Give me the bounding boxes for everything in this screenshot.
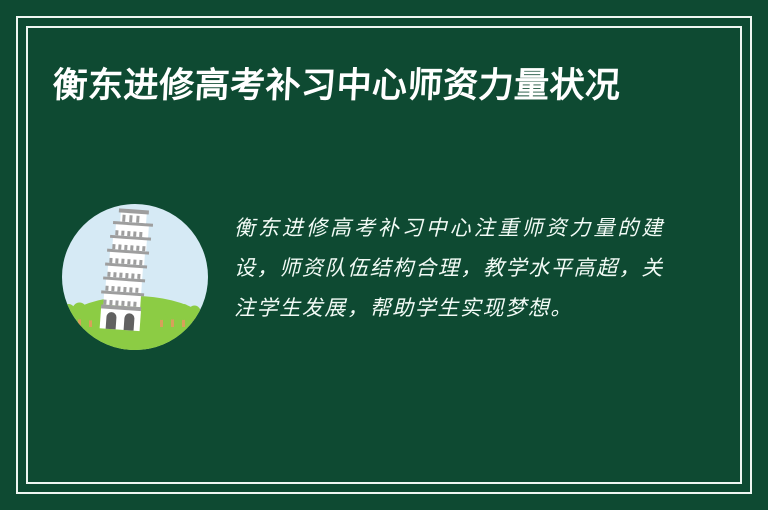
page-title: 衡东进修高考补习中心师资力量状况 bbox=[51, 58, 634, 115]
content-row: 衡东进修高考补习中心注重师资力量的建设，师资队伍结构合理，教学水平高超，关注学生… bbox=[54, 196, 714, 350]
leaning-tower-of-pisa-icon bbox=[62, 204, 208, 350]
poster-canvas: 衡东进修高考补习中心师资力量状况 bbox=[0, 0, 768, 510]
body-paragraph: 衡东进修高考补习中心注重师资力量的建设，师资队伍结构合理，教学水平高超，关注学生… bbox=[234, 208, 664, 328]
